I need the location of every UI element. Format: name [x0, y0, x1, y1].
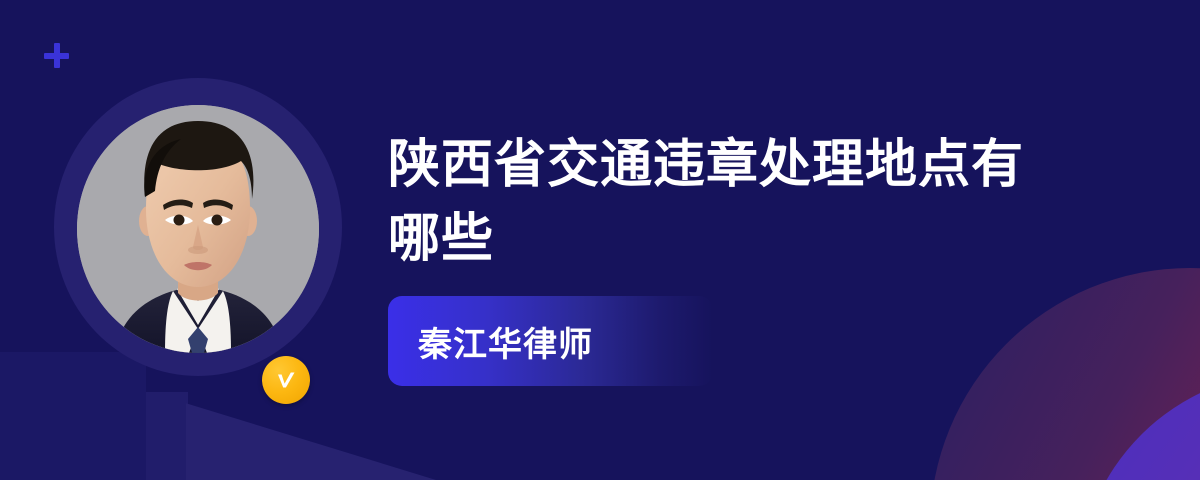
decorative-triangle	[186, 400, 436, 480]
decorative-purple-circle	[1078, 372, 1200, 480]
author-name-label: 秦江华律师	[388, 317, 593, 366]
text-content: 陕西省交通违章处理地点有哪些 秦江华律师	[388, 128, 1088, 276]
author-name-badge[interactable]: 秦江华律师	[388, 296, 713, 386]
decorative-stem	[146, 392, 188, 480]
avatar-photo	[77, 105, 319, 353]
verified-badge-icon	[262, 356, 310, 404]
avatar	[54, 78, 342, 376]
page-title: 陕西省交通违章处理地点有哪些	[388, 128, 1060, 276]
plus-icon	[44, 43, 69, 68]
decorative-crimson-arc	[930, 268, 1200, 480]
article-cover-banner: 陕西省交通违章处理地点有哪些 秦江华律师	[0, 0, 1200, 480]
